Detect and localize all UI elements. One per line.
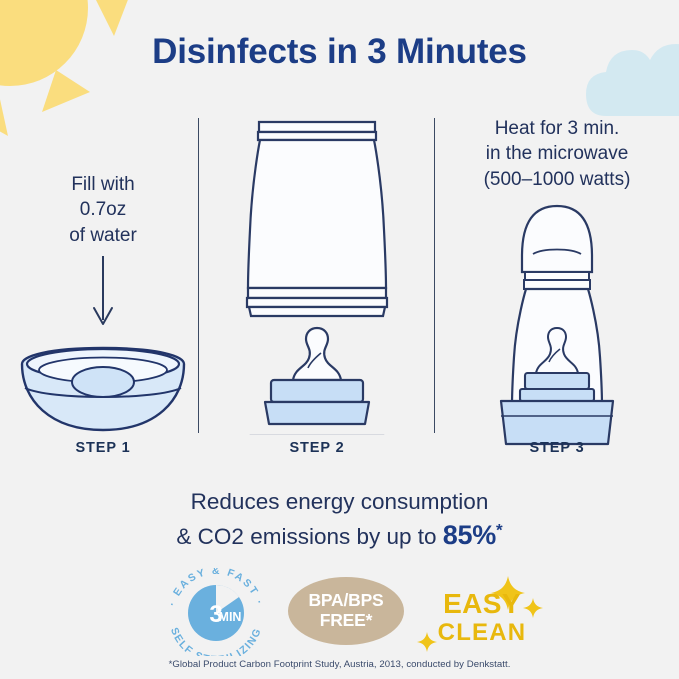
badge-self-sterilizing: 3 MIN · EASY & FAST · SELF STERILIZING	[157, 568, 275, 656]
step-2-column	[202, 110, 432, 440]
step-3-caption-line-2: in the microwave	[438, 141, 676, 166]
bpa-line-1: BPA/BPS	[308, 591, 383, 611]
badge-3min-unit: MIN	[219, 610, 242, 624]
badge-bpa-bps-free: BPA/BPS FREE*	[288, 577, 404, 645]
energy-claim: Reduces energy consumption & CO2 emissio…	[0, 486, 679, 554]
down-arrow-icon	[94, 256, 112, 324]
bowl-icon	[22, 348, 184, 430]
energy-claim-percentage: 85%	[443, 520, 496, 550]
bottle-collar-icon	[265, 380, 369, 424]
step-1-caption-line-2: 0.7oz	[10, 197, 196, 222]
step-1-label: STEP 1	[10, 440, 196, 456]
energy-claim-line-2: & CO2 emissions by up to 85%*	[0, 517, 679, 554]
badge-easy-clean: EASY CLEAN	[416, 568, 548, 656]
step-1-caption: Fill with 0.7oz of water	[10, 172, 196, 248]
step-1-illustration	[10, 248, 196, 453]
step-3-caption-line-1: Heat for 3 min.	[438, 116, 676, 141]
bpa-oval: BPA/BPS FREE*	[288, 577, 404, 645]
easy-clean-line-2: CLEAN	[416, 621, 548, 645]
step-3-caption-line-3: (500–1000 watts)	[438, 167, 676, 192]
energy-claim-line-1: Reduces energy consumption	[0, 486, 679, 517]
step-3-caption: Heat for 3 min. in the microwave (500–10…	[438, 116, 676, 192]
step-2-illustration	[202, 110, 432, 440]
badge-row: 3 MIN · EASY & FAST · SELF STERILIZING B…	[0, 566, 679, 654]
step-3-column: Heat for 3 min. in the microwave (500–10…	[438, 110, 676, 457]
step-3-illustration	[438, 192, 676, 457]
assembled-bottle-icon	[501, 206, 613, 444]
energy-claim-asterisk: *	[496, 521, 503, 540]
easy-clean-text: EASY CLEAN	[416, 590, 548, 645]
step-3-label: STEP 3	[438, 440, 676, 456]
step-1-caption-line-3: of water	[10, 223, 196, 248]
step-1-caption-line-1: Fill with	[10, 172, 196, 197]
column-divider-2	[434, 118, 435, 433]
bottle-nipple-icon	[293, 328, 341, 380]
infographic-canvas: Disinfects in 3 Minutes Fill with 0.7oz …	[0, 0, 679, 679]
footnote: *Global Product Carbon Footprint Study, …	[0, 659, 679, 670]
step-1-column: Fill with 0.7oz of water	[10, 110, 196, 453]
energy-claim-prefix: & CO2 emissions by up to	[176, 524, 442, 549]
column-divider-1	[198, 118, 199, 433]
bottle-body-icon	[247, 122, 387, 316]
step-2-label: STEP 2	[202, 440, 432, 456]
bpa-line-2: FREE*	[320, 611, 372, 631]
easy-clean-line-1: EASY	[416, 590, 548, 618]
page-title: Disinfects in 3 Minutes	[0, 33, 679, 72]
